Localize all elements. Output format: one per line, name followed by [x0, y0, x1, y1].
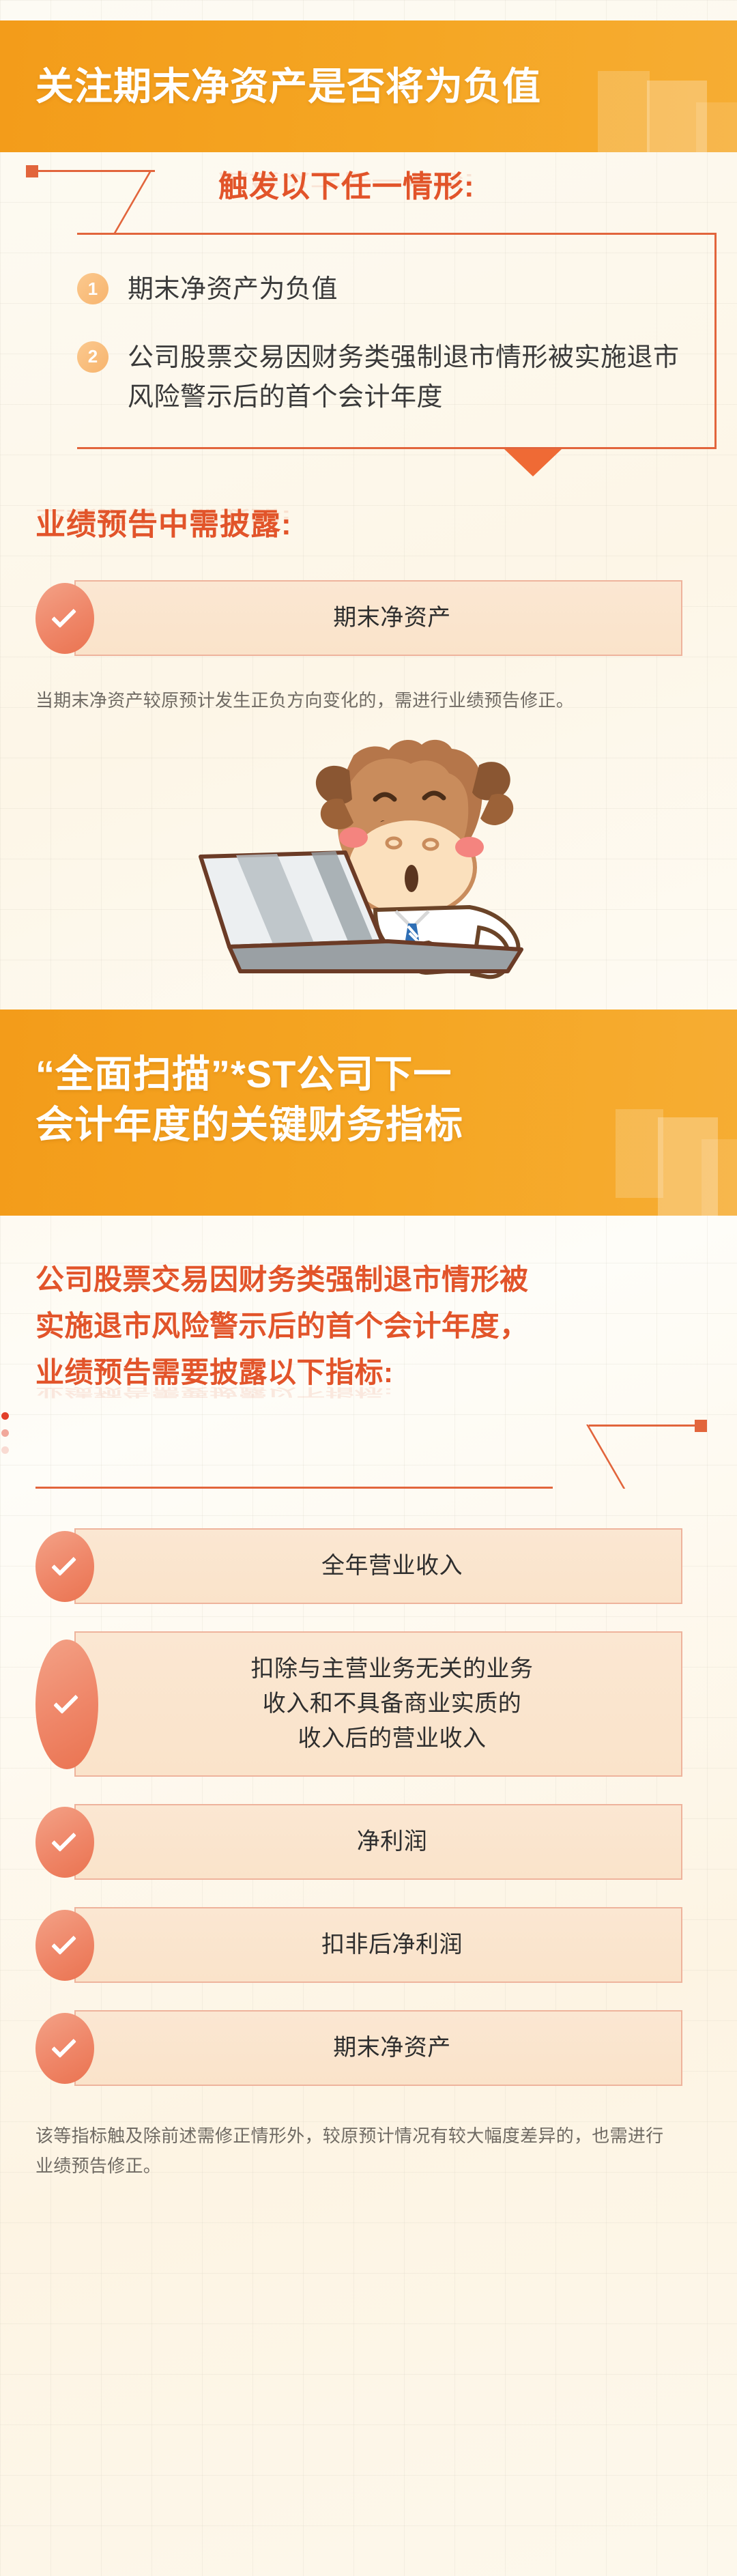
section2-title-line2: 会计年度的关键财务指标	[35, 1100, 737, 1150]
checklist-item: 全年营业收入	[35, 1528, 682, 1604]
check-icon	[35, 1531, 94, 1602]
checklist-pill: 期末净资产	[74, 2010, 682, 2086]
section2-title-line1: “全面扫描”*ST公司下一	[35, 1049, 737, 1100]
check-icon	[35, 2013, 94, 2084]
section2-bracket	[0, 1408, 737, 1489]
section2-intro-line2: 实施退市风险警示后的首个会计年度，	[35, 1303, 693, 1349]
checklist-pill: 期末净资产	[74, 580, 682, 656]
dot-icon	[1, 1429, 9, 1437]
dot-icon	[1, 1412, 9, 1420]
bracket-top-line	[35, 170, 155, 172]
checklist-pill: 净利润	[74, 1804, 682, 1880]
check-icon	[35, 1640, 98, 1769]
infographic-page: 关注期末净资产是否将为负值 触发以下任一情形: 触发以下任一情形: 1 期末净资…	[0, 0, 737, 2576]
section2-banner: “全面扫描”*ST公司下一 会计年度的关键财务指标	[0, 1010, 737, 1216]
bracket2-top-line	[589, 1425, 695, 1427]
checklist-item: 扣非后净利润	[35, 1907, 682, 1983]
section2-title: “全面扫描”*ST公司下一 会计年度的关键财务指标	[0, 1010, 737, 1150]
condition-number-badge: 1	[77, 273, 109, 304]
trigger-label: 触发以下任一情形:	[218, 162, 475, 205]
condition-number-badge: 2	[77, 341, 109, 373]
condition-item: 2 公司股票交易因财务类强制退市情形被实施退市风险警示后的首个会计年度	[77, 339, 691, 418]
conditions-bracket-box: 1 期末净资产为负值 2 公司股票交易因财务类强制退市情形被实施退市风险警示后的…	[77, 233, 717, 449]
checklist-label: 期末净资产	[333, 2031, 451, 2065]
checklist-label: 扣除与主营业务无关的业务 收入和不具备商业实质的 收入后的营业收入	[251, 1652, 534, 1756]
section2-note: 该等指标触及除前述需修正情形外，较原预计情况有较大幅度差异的，也需进行业绩预告修…	[0, 2086, 737, 2181]
section2-intro-line1: 公司股票交易因财务类强制退市情形被	[35, 1257, 693, 1303]
condition-text: 期末净资产为负值	[128, 270, 338, 310]
conditions-list: 1 期末净资产为负值 2 公司股票交易因财务类强制退市情形被实施退市风险警示后的…	[77, 270, 691, 417]
section1-title: 关注期末净资产是否将为负值	[0, 20, 737, 112]
section2-intro-line3: 业绩预告需要披露以下指标:	[35, 1349, 693, 1396]
trigger-bracket-head: 触发以下任一情形: 触发以下任一情形:	[0, 152, 737, 233]
bracket-diagonal-line	[114, 170, 152, 233]
check-icon	[35, 583, 94, 654]
decorative-dots	[1, 1412, 9, 1463]
dot-icon	[1, 1446, 9, 1454]
checklist-item: 净利润	[35, 1804, 682, 1880]
condition-item: 1 期末净资产为负值	[77, 270, 691, 310]
checklist-label: 期末净资产	[333, 601, 451, 635]
checklist-label: 净利润	[357, 1824, 428, 1859]
check-icon	[35, 1807, 94, 1878]
bracket2-diagonal-line	[586, 1425, 625, 1489]
bull-mascot-with-laptop-icon	[171, 723, 553, 1010]
mascot-illustration-wrap	[0, 723, 737, 1010]
bracket2-square-marker	[695, 1420, 707, 1432]
checklist-item: 扣除与主营业务无关的业务 收入和不具备商业实质的 收入后的营业收入	[35, 1631, 682, 1777]
condition-text: 公司股票交易因财务类强制退市情形被实施退市风险警示后的首个会计年度	[128, 339, 691, 418]
checklist-pill: 扣非后净利润	[74, 1907, 682, 1983]
bracket2-bottom-line	[35, 1487, 553, 1489]
disclosure-heading-wrap: 业绩预告中需披露: 业绩预告中需披露:	[0, 449, 737, 543]
checklist-pill: 扣除与主营业务无关的业务 收入和不具备商业实质的 收入后的营业收入	[74, 1631, 682, 1777]
disclosure-heading: 业绩预告中需披露:	[35, 500, 737, 543]
checklist-pill: 全年营业收入	[74, 1528, 682, 1604]
banner2-decoration-rect-3	[702, 1139, 737, 1216]
section2-checklist: 全年营业收入 扣除与主营业务无关的业务 收入和不具备商业实质的 收入后的营业收入…	[0, 1528, 737, 2086]
checklist-item: 期末净资产	[35, 2010, 682, 2086]
section1-note: 当期末净资产较原预计发生正负方向变化的，需进行业绩预告修正。	[0, 656, 737, 716]
section1-banner: 关注期末净资产是否将为负值	[0, 20, 737, 152]
section1-checklist: 期末净资产	[0, 580, 737, 656]
section2-intro: 公司股票交易因财务类强制退市情形被 实施退市风险警示后的首个会计年度， 业绩预告…	[35, 1257, 693, 1396]
checklist-item: 期末净资产	[35, 580, 682, 656]
check-icon	[35, 1910, 94, 1981]
checklist-label: 全年营业收入	[321, 1549, 463, 1584]
checklist-label: 扣非后净利润	[321, 1928, 463, 1962]
section2-intro-wrap: 公司股票交易因财务类强制退市情形被 实施退市风险警示后的首个会计年度， 业绩预告…	[0, 1216, 737, 1396]
